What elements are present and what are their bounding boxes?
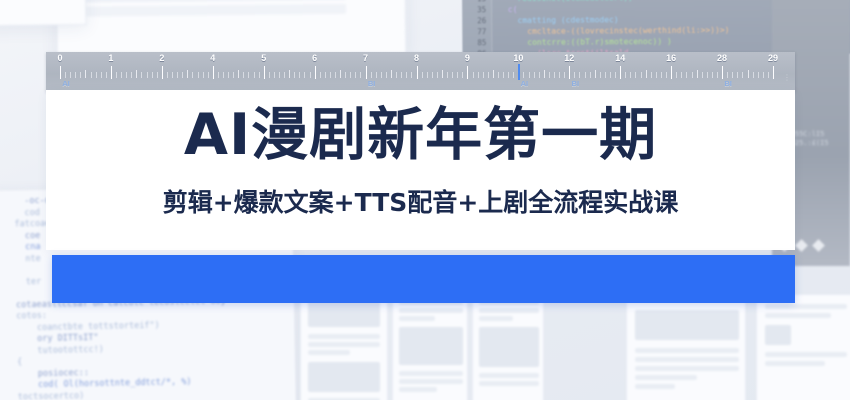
ruler-minor-tick xyxy=(539,72,540,78)
ruler-minor-tick xyxy=(274,72,275,78)
ruler-minor-tick xyxy=(488,72,489,78)
ruler-minor-tick xyxy=(758,72,759,78)
ruler-minor-tick xyxy=(712,72,713,78)
ruler-number: 16 xyxy=(666,53,676,63)
ruler-mid-tick xyxy=(442,70,443,78)
ruler-minor-tick xyxy=(635,72,636,78)
ruler-mid-tick xyxy=(646,70,647,78)
ruler-minor-tick xyxy=(335,72,336,78)
ruler-minor-tick xyxy=(549,72,550,78)
ruler-minor-tick xyxy=(737,72,738,78)
ruler-major-tick xyxy=(467,66,468,79)
poster-title: AI漫剧新年第一期 xyxy=(46,107,795,164)
ruler-number: 29 xyxy=(768,53,778,63)
ruler-overflow-dots: ⋮ xyxy=(783,76,791,80)
ruler-minor-tick xyxy=(325,72,326,78)
ruler-minor-tick xyxy=(411,72,412,78)
ruler-bar[interactable]: 012456789101214162829 ⋮ AIBIAIBIBI xyxy=(46,52,795,92)
ruler-minor-tick xyxy=(457,72,458,78)
ruler-minor-tick xyxy=(320,72,321,78)
ruler-minor-tick xyxy=(152,72,153,78)
ruler-minor-tick xyxy=(692,72,693,78)
ruler-mid-tick xyxy=(85,70,86,78)
editor-line-text: contcrre:((bT.r)smotecenoc)) ) xyxy=(492,36,671,48)
ruler-minor-tick xyxy=(717,72,718,78)
ruler-marker[interactable]: BI xyxy=(724,79,732,88)
ruler-minor-tick xyxy=(177,72,178,78)
ruler-minor-tick xyxy=(116,72,117,78)
diamond-icon xyxy=(795,239,808,252)
poster-card: AI漫剧新年第一期 剪辑+爆款文案+TTS配音+上剧全流程实战课 xyxy=(46,90,795,250)
ruler-minor-tick xyxy=(269,72,270,78)
ruler-minor-tick xyxy=(157,72,158,78)
ruler-minor-tick xyxy=(106,72,107,78)
ruler-mid-tick xyxy=(136,70,137,78)
ruler-minor-tick xyxy=(259,72,260,78)
ruler-minor-tick xyxy=(427,72,428,78)
ruler-major-tick xyxy=(315,66,316,79)
ruler-mid-tick xyxy=(595,70,596,78)
ruler-major-tick xyxy=(366,66,367,79)
ruler-number: 7 xyxy=(363,53,368,63)
ruler-number: 28 xyxy=(717,53,727,63)
ruler-minor-tick xyxy=(406,72,407,78)
ruler-minor-tick xyxy=(126,72,127,78)
ruler-minor-tick xyxy=(141,72,142,78)
ruler-marker[interactable]: AI xyxy=(521,79,529,88)
ruler-major-tick xyxy=(213,66,214,79)
ruler-minor-tick xyxy=(350,72,351,78)
ruler-minor-tick xyxy=(147,72,148,78)
ruler-number: 4 xyxy=(210,53,215,63)
ruler-cursor[interactable] xyxy=(518,64,520,80)
ruler-mid-tick xyxy=(238,70,239,78)
ruler-minor-tick xyxy=(437,72,438,78)
ruler-marker[interactable]: AI xyxy=(62,79,70,88)
ruler-minor-tick xyxy=(208,72,209,78)
background-doc-column xyxy=(300,292,388,400)
accent-bar xyxy=(52,255,795,303)
ruler-minor-tick xyxy=(376,72,377,78)
ruler-minor-tick xyxy=(763,72,764,78)
ruler-minor-tick xyxy=(167,72,168,78)
ruler-minor-tick xyxy=(590,72,591,78)
ruler-number: 5 xyxy=(261,53,266,63)
ruler-minor-tick xyxy=(294,72,295,78)
ruler-minor-tick xyxy=(498,72,499,78)
ruler-minor-tick xyxy=(432,72,433,78)
ruler-minor-tick xyxy=(299,72,300,78)
ruler-minor-tick xyxy=(218,72,219,78)
ruler-minor-tick xyxy=(304,72,305,78)
ruler-minor-tick xyxy=(732,72,733,78)
ruler-minor-tick xyxy=(564,72,565,78)
ruler-minor-tick xyxy=(600,72,601,78)
ruler-minor-tick xyxy=(386,72,387,78)
ruler-minor-tick xyxy=(101,72,102,78)
ruler-minor-tick xyxy=(508,72,509,78)
editor-line-number: 77 xyxy=(462,26,492,37)
editor-line-number: 85 xyxy=(462,37,492,48)
ruler-mid-tick xyxy=(340,70,341,78)
ruler-minor-tick xyxy=(254,72,255,78)
ruler-minor-tick xyxy=(625,72,626,78)
ruler-mid-tick xyxy=(289,70,290,78)
ruler-minor-tick xyxy=(310,72,311,78)
ruler-minor-tick xyxy=(96,72,97,78)
ruler-major-tick xyxy=(162,66,163,79)
ruler-minor-tick xyxy=(192,72,193,78)
background-doc-edge xyxy=(0,300,40,400)
ruler-number: 2 xyxy=(159,53,164,63)
ruler-minor-tick xyxy=(182,72,183,78)
ruler-minor-tick xyxy=(707,72,708,78)
ruler-mid-tick xyxy=(187,70,188,78)
background-doc-column xyxy=(392,292,468,400)
ruler-minor-tick xyxy=(396,72,397,78)
ruler-minor-tick xyxy=(70,72,71,78)
ruler-number: 6 xyxy=(312,53,317,63)
editor-line-text: cmcltace-((lovrecinstec(werthind(li:>>))… xyxy=(492,25,729,38)
editor-line-text: cmatting (cdestmodec) xyxy=(492,14,618,26)
ruler-minor-tick xyxy=(753,72,754,78)
ruler-minor-tick xyxy=(574,72,575,78)
ruler-number: 14 xyxy=(615,53,625,63)
ruler-mid-tick xyxy=(493,70,494,78)
ruler-number: 10 xyxy=(513,53,523,63)
ruler-minor-tick xyxy=(452,72,453,78)
ruler-minor-tick xyxy=(203,72,204,78)
ruler-minor-tick xyxy=(666,72,667,78)
ruler-minor-tick xyxy=(529,72,530,78)
background-doc-card xyxy=(756,294,850,400)
ruler-minor-tick xyxy=(172,72,173,78)
ruler-minor-tick xyxy=(503,72,504,78)
ruler-number: 0 xyxy=(57,53,62,63)
ruler-major-tick xyxy=(773,66,774,79)
ruler-minor-tick xyxy=(91,72,92,78)
ruler-minor-tick xyxy=(75,72,76,78)
ruler-major-tick xyxy=(60,66,61,79)
ruler-minor-tick xyxy=(223,72,224,78)
ruler-marker[interactable]: BI xyxy=(572,79,580,88)
ruler-marker[interactable]: BI xyxy=(368,79,376,88)
ruler-minor-tick xyxy=(630,72,631,78)
ruler-minor-tick xyxy=(661,72,662,78)
editor-line-number: 26 xyxy=(462,15,492,26)
ruler-minor-tick xyxy=(371,72,372,78)
ruler-major-tick xyxy=(417,66,418,79)
ruler-minor-tick xyxy=(656,72,657,78)
ruler-minor-tick xyxy=(228,72,229,78)
ruler-minor-tick xyxy=(345,72,346,78)
ruler-minor-tick xyxy=(462,72,463,78)
ruler-minor-tick xyxy=(676,72,677,78)
ruler-minor-tick xyxy=(473,72,474,78)
ruler-minor-tick xyxy=(513,72,514,78)
ruler-minor-tick xyxy=(534,72,535,78)
ruler-minor-tick xyxy=(605,72,606,78)
ruler-minor-tick xyxy=(610,72,611,78)
ruler-major-tick xyxy=(671,66,672,79)
editor-line-number: 35 xyxy=(462,4,492,15)
ruler-minor-tick xyxy=(651,72,652,78)
ruler-minor-tick xyxy=(131,72,132,78)
ruler-minor-tick xyxy=(686,72,687,78)
ruler-minor-tick xyxy=(198,72,199,78)
ruler-minor-tick xyxy=(121,72,122,78)
ruler-minor-tick xyxy=(284,72,285,78)
ruler-minor-tick xyxy=(559,72,560,78)
ruler-minor-tick xyxy=(381,72,382,78)
ruler-minor-tick xyxy=(330,72,331,78)
ruler-minor-tick xyxy=(243,72,244,78)
ruler-minor-tick xyxy=(422,72,423,78)
ruler-minor-tick xyxy=(447,72,448,78)
ruler-minor-tick xyxy=(80,72,81,78)
ruler-minor-tick xyxy=(401,72,402,78)
ruler-mid-tick xyxy=(391,70,392,78)
ruler-minor-tick xyxy=(742,72,743,78)
ruler-major-tick xyxy=(569,66,570,79)
ruler-minor-tick xyxy=(523,72,524,78)
diamond-icon xyxy=(812,239,825,252)
background-document-window xyxy=(55,0,406,58)
ruler-mid-tick xyxy=(748,70,749,78)
ruler-number: 9 xyxy=(465,53,470,63)
ruler-minor-tick xyxy=(681,72,682,78)
ruler-minor-tick xyxy=(233,72,234,78)
ruler-ticks: 012456789101214162829 xyxy=(46,52,795,80)
ruler-minor-tick xyxy=(483,72,484,78)
ruler-major-tick xyxy=(620,66,621,79)
ruler-number: 8 xyxy=(414,53,419,63)
background-doc-card xyxy=(626,300,746,400)
ruler-number: 12 xyxy=(564,53,574,63)
ruler-number: 1 xyxy=(108,53,113,63)
ruler-minor-tick xyxy=(727,72,728,78)
background-doc-column xyxy=(472,292,544,400)
background-document-window-secondary xyxy=(0,0,87,27)
ruler-minor-tick xyxy=(478,72,479,78)
ruler-minor-tick xyxy=(355,72,356,78)
ruler-minor-tick xyxy=(279,72,280,78)
ruler-minor-tick xyxy=(248,72,249,78)
ruler-major-tick xyxy=(264,66,265,79)
ruler-minor-tick xyxy=(768,72,769,78)
ruler-major-tick xyxy=(722,66,723,79)
ruler-minor-tick xyxy=(579,72,580,78)
ruler-minor-tick xyxy=(65,72,66,78)
ruler-minor-tick xyxy=(360,72,361,78)
ruler-minor-tick xyxy=(641,72,642,78)
poster-subtitle: 剪辑+爆款文案+TTS配音+上剧全流程实战课 xyxy=(46,190,795,215)
ruler-minor-tick xyxy=(554,72,555,78)
editor-line-text: c( xyxy=(492,4,517,15)
ruler-minor-tick xyxy=(585,72,586,78)
ruler-major-tick xyxy=(111,66,112,79)
ruler-minor-tick xyxy=(615,72,616,78)
ruler-minor-tick xyxy=(702,72,703,78)
ruler-mid-tick xyxy=(697,70,698,78)
ruler-mid-tick xyxy=(544,70,545,78)
